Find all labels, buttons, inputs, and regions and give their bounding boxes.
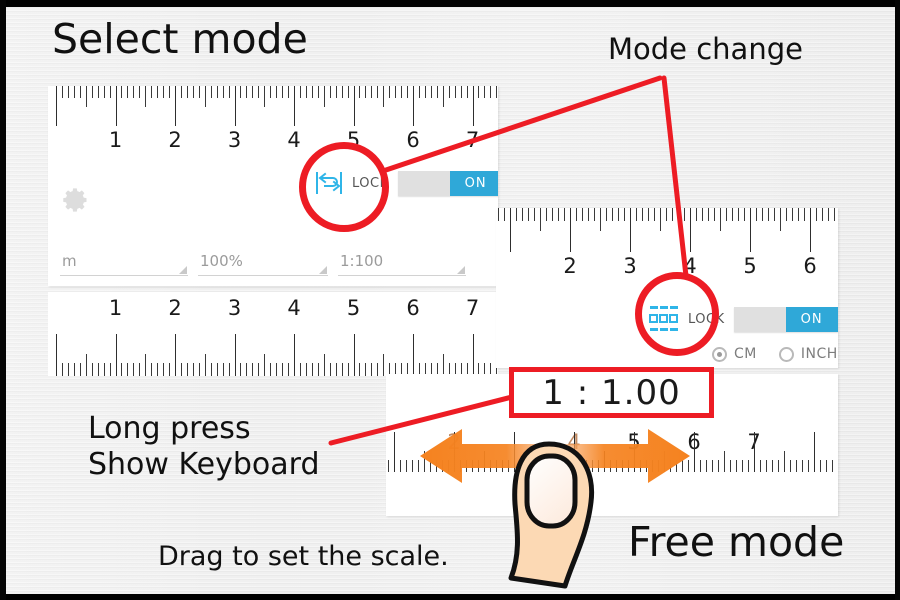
ruler-tick [294, 86, 295, 126]
ruler-tick [732, 208, 733, 221]
ruler-tick [412, 460, 413, 472]
ruler-tick [336, 363, 337, 376]
ruler-tick [618, 208, 619, 221]
ruler-tick [324, 354, 325, 376]
long-press-line2: Show Keyboard [88, 449, 320, 481]
ruler-tick [98, 86, 99, 98]
radio-label: INCH [801, 346, 838, 362]
ruler-tick [348, 363, 349, 376]
ruler-tick [365, 86, 366, 98]
toggle-off-half[interactable] [398, 171, 450, 196]
ruler-number: 4 [287, 296, 300, 320]
ruler-tick [798, 208, 799, 221]
ruler-tick [407, 86, 408, 98]
ruler-tick [175, 86, 176, 126]
scale-value: 1 : 1.00 [542, 373, 680, 413]
long-press-line1: Long press [88, 411, 251, 446]
ruler-tick [306, 363, 307, 376]
ruler-tick [780, 208, 781, 231]
ruler-tick [582, 208, 583, 221]
inch-radio[interactable]: INCH [779, 346, 838, 362]
ruler-tick [400, 460, 401, 472]
ruler-tick [443, 86, 444, 107]
ruler-tick [678, 208, 679, 221]
ruler-tick [80, 86, 81, 98]
ruler-tick [246, 86, 247, 98]
ruler-tick [145, 86, 146, 107]
spinner-value: 1:100 [340, 252, 383, 270]
select-mode-lower-ruler-panel[interactable]: 1234567 [48, 292, 498, 376]
ruler-tick [484, 86, 485, 98]
ruler-tick [528, 208, 529, 221]
ruler-tick [792, 208, 793, 221]
ruler-tick [630, 208, 631, 252]
ruler-tick [642, 208, 643, 221]
ruler-number: 2 [168, 296, 181, 320]
spinner-value: m [62, 252, 77, 270]
ruler-tick [354, 86, 355, 126]
ruler-tick [383, 354, 384, 376]
radio-dot-icon[interactable] [779, 347, 794, 362]
ruler-tick [330, 86, 331, 98]
ruler-tick [389, 86, 390, 98]
ruler-tick [68, 363, 69, 376]
ruler-tick [802, 460, 803, 472]
ruler-tick [714, 208, 715, 221]
select-ruler-top-numbers: 1234567 [48, 128, 498, 156]
ruler-number: 1 [109, 296, 122, 320]
ruler-tick [748, 460, 749, 472]
ruler-tick [151, 86, 152, 98]
radio-dot-icon[interactable] [712, 347, 727, 362]
chevron-down-icon[interactable] [179, 266, 187, 274]
bottom-border [0, 594, 900, 600]
free-ruler-top [496, 208, 838, 254]
ruler-tick [540, 208, 541, 231]
free-mode-title: Free mode [628, 521, 844, 564]
ruler-tick [288, 363, 289, 376]
select-settings-row[interactable] [62, 186, 90, 214]
ruler-tick [648, 208, 649, 221]
ruler-tick [211, 86, 212, 98]
ruler-tick [750, 208, 751, 252]
ruler-tick [766, 460, 767, 472]
ruler-tick [199, 86, 200, 98]
select-mode-highlight-circle [299, 142, 389, 232]
ruler-tick [163, 363, 164, 376]
ruler-tick [473, 334, 474, 376]
ruler-tick [558, 208, 559, 221]
ruler-number: 3 [228, 128, 241, 152]
ruler-tick [181, 86, 182, 98]
ruler-tick [92, 363, 93, 376]
ruler-tick [240, 86, 241, 98]
ruler-tick [240, 363, 241, 376]
ruler-tick [394, 432, 395, 472]
ruler-tick [473, 86, 474, 126]
ruler-tick [808, 460, 809, 472]
ruler-tick [288, 86, 289, 98]
ruler-tick [68, 86, 69, 98]
ruler-tick [413, 86, 414, 126]
ruler-number: 3 [623, 254, 636, 278]
ruler-tick [534, 208, 535, 221]
ruler-tick [696, 208, 697, 221]
ruler-tick [318, 86, 319, 98]
select-ruler-bottom-numbers: 1234567 [48, 296, 498, 324]
ruler-tick [92, 86, 93, 98]
ruler-tick [264, 86, 265, 107]
unit-radio-group[interactable]: CMINCH [712, 346, 838, 362]
ruler-tick [768, 208, 769, 221]
select-mode-panel[interactable]: 1234567 [48, 86, 498, 286]
ruler-tick [74, 363, 75, 376]
ruler-tick [74, 86, 75, 98]
ruler-tick [264, 354, 265, 376]
ruler-tick [419, 86, 420, 98]
ruler-tick [110, 363, 111, 376]
ruler-tick [348, 86, 349, 98]
ruler-number: 6 [406, 128, 419, 152]
ruler-tick [455, 86, 456, 98]
ruler-tick [98, 363, 99, 376]
finger-pointer-icon [487, 440, 612, 600]
ruler-tick [712, 460, 713, 472]
ruler-tick [738, 208, 739, 221]
ruler-tick [762, 208, 763, 221]
select-mode-title: Select mode [52, 18, 308, 61]
ruler-tick [552, 208, 553, 221]
ruler-tick [726, 208, 727, 221]
ruler-tick [318, 363, 319, 376]
ruler-tick [546, 208, 547, 221]
ruler-tick [790, 460, 791, 472]
ruler-tick [223, 86, 224, 98]
ruler-tick [169, 86, 170, 98]
ruler-tick [193, 86, 194, 98]
ruler-tick [157, 86, 158, 98]
ruler-tick [312, 86, 313, 98]
ruler-tick [121, 363, 122, 376]
ruler-tick [127, 86, 128, 98]
ruler-tick [270, 363, 271, 376]
ruler-tick [570, 208, 571, 252]
ruler-tick [564, 208, 565, 221]
ruler-tick [205, 86, 206, 107]
ratio-spinner[interactable]: 1:100 [338, 250, 466, 276]
ruler-tick [282, 363, 283, 376]
ruler-number: 5 [743, 254, 756, 278]
ruler-tick [187, 86, 188, 98]
ruler-number: 7 [466, 296, 479, 320]
ruler-tick [193, 363, 194, 376]
ruler-tick [169, 363, 170, 376]
ruler-tick [205, 354, 206, 376]
ruler-tick [504, 208, 505, 221]
ruler-tick [62, 86, 63, 98]
ruler-tick [217, 86, 218, 98]
ruler-tick [478, 86, 479, 98]
chevron-down-icon[interactable] [319, 266, 327, 274]
ruler-tick [62, 363, 63, 376]
ruler-tick [786, 208, 787, 221]
ruler-tick [342, 86, 343, 98]
ruler-tick [294, 334, 295, 376]
ruler-tick [354, 334, 355, 376]
ruler-tick [490, 86, 491, 98]
ruler-tick [744, 208, 745, 221]
ruler-tick [151, 363, 152, 376]
ruler-tick [133, 363, 134, 376]
ruler-tick [377, 86, 378, 98]
ruler-tick [229, 363, 230, 376]
ruler-tick [672, 208, 673, 221]
select-spinner-row[interactable]: m100%1:100 [60, 250, 476, 276]
ruler-tick [449, 86, 450, 98]
ruler-tick [522, 208, 523, 221]
ruler-tick [594, 208, 595, 221]
ruler-number: 5 [347, 296, 360, 320]
ruler-tick [796, 460, 797, 472]
ruler-tick [365, 363, 366, 376]
ruler-tick [270, 86, 271, 98]
ruler-tick [814, 432, 815, 472]
ruler-tick [636, 208, 637, 221]
ruler-number: 7 [466, 128, 479, 152]
ruler-tick [413, 334, 414, 376]
free-mode-highlight-circle [635, 272, 719, 356]
ruler-tick [86, 354, 87, 376]
ruler-number: 3 [228, 296, 241, 320]
ruler-tick [217, 363, 218, 376]
ruler-tick [461, 86, 462, 98]
ruler-tick [181, 363, 182, 376]
ruler-tick [377, 363, 378, 376]
ruler-tick [690, 208, 691, 252]
ruler-tick [700, 460, 701, 472]
ruler-tick [116, 86, 117, 126]
ruler-tick [742, 460, 743, 472]
ruler-tick [606, 208, 607, 221]
ruler-tick [235, 86, 236, 126]
ruler-tick [822, 208, 823, 221]
ruler-tick [774, 208, 775, 221]
ruler-tick [834, 208, 835, 221]
ruler-tick [187, 363, 188, 376]
ruler-tick [80, 363, 81, 376]
ruler-tick [708, 208, 709, 221]
ruler-tick [282, 86, 283, 98]
ruler-tick [684, 208, 685, 221]
ruler-tick [784, 451, 785, 472]
toggle-off-half[interactable] [734, 307, 786, 332]
ruler-tick [406, 460, 407, 472]
ruler-tick [467, 86, 468, 98]
ruler-tick [666, 208, 667, 221]
ruler-tick [724, 451, 725, 472]
ruler-tick [576, 208, 577, 221]
gear-icon[interactable] [62, 186, 90, 214]
ruler-tick [395, 86, 396, 98]
ruler-tick [127, 363, 128, 376]
ruler-tick [754, 432, 755, 472]
ruler-tick [116, 334, 117, 376]
ruler-tick [211, 363, 212, 376]
ruler-number: 1 [109, 128, 122, 152]
ruler-tick [110, 86, 111, 98]
drag-caption: Drag to set the scale. [158, 543, 449, 571]
mode-change-label: Mode change [608, 34, 803, 64]
unit-spinner[interactable]: m [60, 250, 188, 276]
ruler-tick [104, 86, 105, 98]
ruler-tick [306, 86, 307, 98]
ruler-tick [401, 86, 402, 98]
ruler-tick [133, 86, 134, 98]
percent-spinner[interactable]: 100% [198, 250, 328, 276]
ruler-tick [246, 363, 247, 376]
ruler-tick [660, 208, 661, 231]
ruler-tick [229, 86, 230, 98]
ruler-number: 6 [406, 296, 419, 320]
select-lock-toggle[interactable]: ON [398, 171, 498, 196]
ruler-tick [336, 86, 337, 98]
top-border [0, 0, 900, 7]
ruler-tick [736, 460, 737, 472]
ruler-tick [252, 86, 253, 98]
ruler-tick [828, 208, 829, 221]
ruler-tick [371, 86, 372, 98]
ruler-tick [510, 208, 511, 252]
ruler-tick [810, 208, 811, 252]
ruler-tick [359, 363, 360, 376]
ruler-tick [324, 86, 325, 107]
scale-value-box[interactable]: 1 : 1.00 [509, 367, 714, 418]
ruler-tick [694, 432, 695, 472]
ruler-tick [235, 334, 236, 376]
ruler-tick [816, 208, 817, 221]
ruler-tick [258, 86, 259, 98]
ruler-tick [300, 86, 301, 98]
ruler-tick [496, 86, 497, 98]
ruler-tick [300, 363, 301, 376]
ruler-tick [163, 86, 164, 98]
free-lock-toggle[interactable]: ON [734, 307, 838, 332]
ruler-tick [86, 86, 87, 107]
ruler-tick [199, 363, 200, 376]
ruler-tick [600, 208, 601, 231]
ruler-tick [371, 363, 372, 376]
ruler-tick [772, 460, 773, 472]
ruler-tick [276, 363, 277, 376]
ruler-tick [730, 460, 731, 472]
ruler-tick [139, 86, 140, 98]
ruler-tick [612, 208, 613, 221]
left-border [0, 0, 6, 600]
ruler-tick [139, 363, 140, 376]
ruler-tick [258, 363, 259, 376]
ruler-tick [820, 460, 821, 472]
ruler-tick [718, 460, 719, 472]
ruler-tick [223, 363, 224, 376]
ruler-tick [702, 208, 703, 221]
ruler-tick [276, 86, 277, 98]
select-ruler-bottom [48, 332, 498, 376]
ruler-tick [437, 86, 438, 98]
ruler-tick [330, 363, 331, 376]
ruler-tick [145, 354, 146, 376]
ruler-tick [312, 363, 313, 376]
cm-radio[interactable]: CM [712, 346, 757, 362]
ruler-tick [706, 460, 707, 472]
ruler-tick [157, 363, 158, 376]
ruler-tick [425, 86, 426, 98]
ruler-tick [588, 208, 589, 221]
toggle-on-label[interactable]: ON [450, 171, 498, 196]
ruler-tick [443, 354, 444, 376]
ruler-tick [342, 363, 343, 376]
ruler-number: 2 [168, 128, 181, 152]
ruler-tick [431, 86, 432, 98]
ruler-tick [756, 208, 757, 221]
ruler-tick [624, 208, 625, 221]
ruler-tick [832, 460, 833, 472]
ruler-tick [654, 208, 655, 221]
select-ruler-top [48, 86, 498, 128]
chevron-down-icon[interactable] [457, 266, 465, 274]
ruler-tick [778, 460, 779, 472]
ruler-number: 6 [803, 254, 816, 278]
ruler-tick [720, 208, 721, 231]
radio-label: CM [734, 346, 757, 362]
ruler-tick [516, 208, 517, 221]
ruler-tick [760, 460, 761, 472]
long-press-hint: Long press Show Keyboard [88, 413, 320, 480]
ruler-tick [252, 363, 253, 376]
ruler-tick [104, 363, 105, 376]
ruler-tick [56, 334, 57, 376]
ruler-number: 4 [287, 128, 300, 152]
ruler-tick [383, 86, 384, 107]
spinner-value: 100% [200, 252, 243, 270]
ruler-number: 2 [563, 254, 576, 278]
ruler-tick [56, 86, 57, 126]
ruler-tick [388, 460, 389, 472]
ruler-tick [498, 208, 499, 221]
ruler-tick [121, 86, 122, 98]
ruler-tick [804, 208, 805, 221]
ruler-tick [175, 334, 176, 376]
ruler-tick [418, 460, 419, 472]
tutorial-screenshot: 1234567 [0, 0, 900, 600]
right-border [895, 0, 900, 600]
ruler-tick [359, 86, 360, 98]
toggle-on-label[interactable]: ON [786, 307, 838, 332]
ruler-tick [826, 460, 827, 472]
